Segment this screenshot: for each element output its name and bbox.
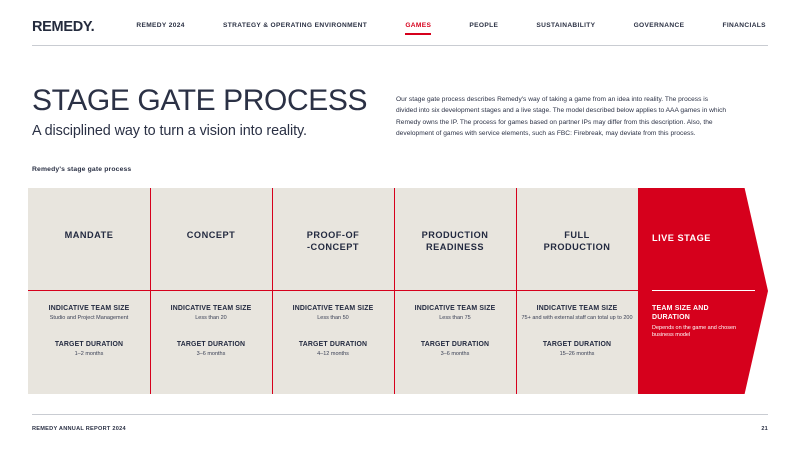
stage-column-production-readiness[interactable]: PRODUCTION READINESS INDICATIVE TEAM SIZ… — [394, 188, 516, 394]
stage-column-live-stage[interactable]: LIVE STAGE TEAM SIZE AND DURATION Depend… — [638, 188, 768, 394]
stage-gate-diagram: MANDATE INDICATIVE TEAM SIZE Studio and … — [28, 188, 768, 394]
team-size-value: Studio and Project Management — [32, 315, 146, 323]
stage-column-full-production[interactable]: FULL PRODUCTION INDICATIVE TEAM SIZE 75+… — [516, 188, 638, 394]
intro-paragraph: Our stage gate process describes Remedy'… — [396, 94, 728, 139]
stage-body-production-readiness: INDICATIVE TEAM SIZE Less than 75 TARGET… — [398, 304, 512, 358]
spacer — [154, 323, 268, 340]
duration-label: TARGET DURATION — [154, 340, 268, 349]
duration-label: TARGET DURATION — [32, 340, 146, 349]
duration-label: TARGET DURATION — [398, 340, 512, 349]
nav-item-financials[interactable]: FINANCIALS — [723, 22, 766, 37]
live-stage-divider — [652, 290, 755, 291]
nav-links: REMEDY 2024 STRATEGY & OPERATING ENVIRON… — [136, 20, 768, 37]
stage-title-live-stage: LIVE STAGE — [652, 233, 711, 243]
duration-value: 15–26 months — [520, 351, 634, 359]
team-size-label: INDICATIVE TEAM SIZE — [154, 304, 268, 313]
title-block: STAGE GATE PROCESS A disciplined way to … — [32, 84, 382, 140]
stage-title-line-1: PROOF-OF — [272, 230, 394, 242]
spacer — [520, 323, 634, 340]
stage-track: MANDATE INDICATIVE TEAM SIZE Studio and … — [28, 188, 638, 394]
team-size-label: INDICATIVE TEAM SIZE — [32, 304, 146, 313]
stage-title-proof-of-concept: PROOF-OF -CONCEPT — [272, 230, 394, 253]
nav-divider — [32, 45, 768, 46]
duration-value: 3–6 months — [154, 351, 268, 359]
nav-item-governance[interactable]: GOVERNANCE — [634, 22, 685, 37]
spacer — [398, 323, 512, 340]
live-stage-body: TEAM SIZE AND DURATION Depends on the ga… — [652, 304, 748, 340]
stage-column-proof-of-concept[interactable]: PROOF-OF -CONCEPT INDICATIVE TEAM SIZE L… — [272, 188, 394, 394]
stage-title-line-2: PRODUCTION — [516, 242, 638, 254]
live-stage-meta-label-line-2: DURATION — [652, 313, 748, 322]
top-navigation-bar: REMEDY. REMEDY 2024 STRATEGY & OPERATING… — [0, 0, 800, 48]
nav-item-remedy-2024[interactable]: REMEDY 2024 — [136, 22, 184, 37]
nav-item-games[interactable]: GAMES — [405, 22, 431, 37]
stage-divider — [28, 290, 150, 291]
live-stage-meta-label-line-1: TEAM SIZE AND — [652, 304, 748, 313]
nav-inner: REMEDY. REMEDY 2024 STRATEGY & OPERATING… — [32, 20, 768, 40]
spacer — [32, 323, 146, 340]
stage-title-production-readiness: PRODUCTION READINESS — [394, 230, 516, 253]
nav-item-people[interactable]: PEOPLE — [469, 22, 498, 37]
stage-body-proof-of-concept: INDICATIVE TEAM SIZE Less than 50 TARGET… — [276, 304, 390, 358]
live-stage-meta-value: Depends on the game and chosen business … — [652, 325, 748, 340]
spacer — [276, 323, 390, 340]
nav-item-sustainability[interactable]: SUSTAINABILITY — [536, 22, 595, 37]
stage-body-full-production: INDICATIVE TEAM SIZE 75+ and with extern… — [520, 304, 634, 358]
duration-value: 1–2 months — [32, 351, 146, 359]
duration-label: TARGET DURATION — [520, 340, 634, 349]
team-size-label: INDICATIVE TEAM SIZE — [276, 304, 390, 313]
stage-body-mandate: INDICATIVE TEAM SIZE Studio and Project … — [32, 304, 146, 358]
stage-title-line-2: READINESS — [394, 242, 516, 254]
stage-title-line-1: FULL — [516, 230, 638, 242]
stage-title-concept: CONCEPT — [150, 230, 272, 242]
duration-value: 4–12 months — [276, 351, 390, 359]
stage-divider — [516, 290, 638, 291]
stage-divider — [272, 290, 394, 291]
team-size-value: Less than 50 — [276, 315, 390, 323]
team-size-label: INDICATIVE TEAM SIZE — [398, 304, 512, 313]
stage-column-mandate[interactable]: MANDATE INDICATIVE TEAM SIZE Studio and … — [28, 188, 150, 394]
stage-column-concept[interactable]: CONCEPT INDICATIVE TEAM SIZE Less than 2… — [150, 188, 272, 394]
stage-divider — [150, 290, 272, 291]
page-subtitle: A disciplined way to turn a vision into … — [32, 122, 382, 140]
stage-title-line-2: -CONCEPT — [272, 242, 394, 254]
nav-item-strategy-operating-environment[interactable]: STRATEGY & OPERATING ENVIRONMENT — [223, 22, 367, 37]
footer-page-number: 21 — [761, 426, 768, 432]
diagram-section-label: Remedy's stage gate process — [32, 166, 131, 173]
footer-divider — [32, 414, 768, 415]
page-title: STAGE GATE PROCESS — [32, 84, 382, 117]
duration-label: TARGET DURATION — [276, 340, 390, 349]
footer-report-title: REMEDY ANNUAL REPORT 2024 — [32, 426, 126, 432]
team-size-value: Less than 75 — [398, 315, 512, 323]
stage-title-full-production: FULL PRODUCTION — [516, 230, 638, 253]
stage-divider — [394, 290, 516, 291]
stage-body-concept: INDICATIVE TEAM SIZE Less than 20 TARGET… — [154, 304, 268, 358]
remedy-logo[interactable]: REMEDY. — [32, 20, 94, 35]
duration-value: 3–6 months — [398, 351, 512, 359]
team-size-label: INDICATIVE TEAM SIZE — [520, 304, 634, 313]
team-size-value: Less than 20 — [154, 315, 268, 323]
stage-title-mandate: MANDATE — [28, 230, 150, 242]
stage-title-line-1: PRODUCTION — [394, 230, 516, 242]
team-size-value: 75+ and with external staff can total up… — [520, 315, 634, 323]
